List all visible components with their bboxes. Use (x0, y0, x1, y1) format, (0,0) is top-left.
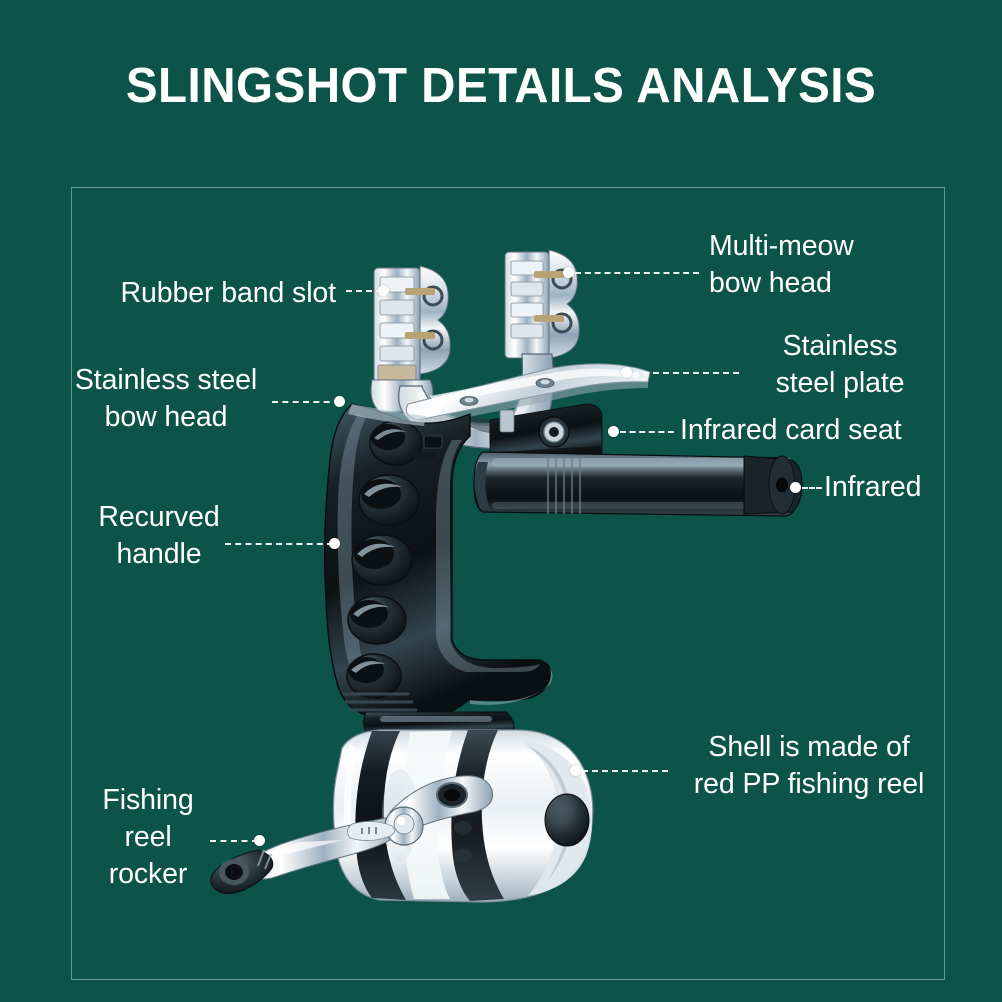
callout-shell-red-pp-reel: Shell is made of red PP fishing reel (664, 729, 954, 803)
part-fishing-reel (333, 730, 592, 902)
callout-stainless-steel-plate: Stainless steel plate (742, 328, 938, 402)
leader-rubber-band-slot (346, 290, 382, 292)
dot-rubber-band-slot (378, 285, 389, 296)
dot-stainless-steel-plate (621, 367, 632, 378)
infographic-canvas: SLINGSHOT DETAILS ANALYSIS (0, 0, 1002, 1002)
leader-infrared-card-seat (620, 431, 674, 433)
part-recurved-handle (325, 404, 553, 716)
leader-stainless-steel-plate (633, 372, 739, 374)
leader-stainless-steel-bow-head (272, 401, 340, 403)
dot-recurved-handle (329, 538, 340, 549)
leader-recurved-handle (225, 543, 333, 545)
dot-stainless-steel-bow-head (334, 396, 345, 407)
callout-fishing-reel-rocker: Fishing reel rocker (78, 782, 218, 893)
page-title: SLINGSHOT DETAILS ANALYSIS (15, 62, 987, 111)
dot-infrared (790, 482, 801, 493)
callout-multi-meow-bow-head: Multi-meow bow head (709, 228, 969, 302)
callout-stainless-steel-bow-head: Stainless steel bow head (60, 362, 272, 436)
leader-shell-red-pp-reel (582, 770, 668, 772)
part-infrared-laser (474, 452, 802, 516)
callout-rubber-band-slot: Rubber band slot (0, 275, 336, 312)
part-infrared-card-seat (490, 404, 602, 462)
dot-fishing-reel-rocker (254, 835, 265, 846)
dot-infrared-card-seat (608, 426, 619, 437)
callout-infrared-card-seat: Infrared card seat (680, 412, 960, 449)
callout-recurved-handle: Recurved handle (84, 499, 234, 573)
part-stainless-steel-plate (406, 364, 650, 426)
part-fishing-reel-rocker (211, 776, 493, 894)
dot-multi-meow-bow-head (563, 267, 574, 278)
dot-shell-red-pp-reel (570, 765, 581, 776)
callout-infrared: Infrared (824, 469, 984, 506)
leader-multi-meow-bow-head (575, 272, 699, 274)
leader-infrared (802, 487, 822, 489)
part-fork-yoke (399, 354, 554, 449)
part-reel-seat (364, 712, 515, 736)
